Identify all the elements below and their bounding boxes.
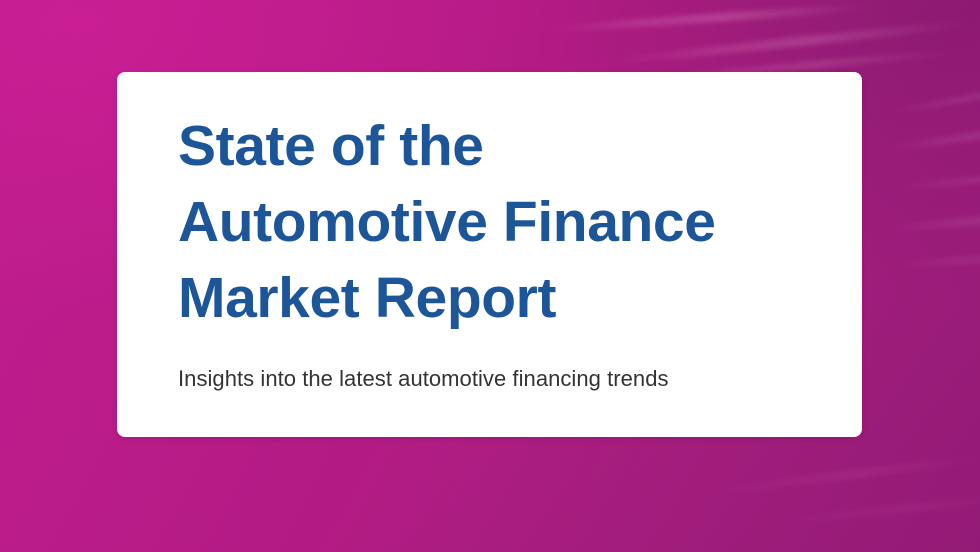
title-card-content: State of the Automotive Finance Market R…: [178, 108, 822, 394]
page-subtitle: Insights into the latest automotive fina…: [178, 336, 822, 394]
page-title: State of the Automotive Finance Market R…: [178, 108, 822, 336]
report-cover-slide: State of the Automotive Finance Market R…: [0, 0, 980, 552]
title-card: State of the Automotive Finance Market R…: [117, 72, 862, 437]
